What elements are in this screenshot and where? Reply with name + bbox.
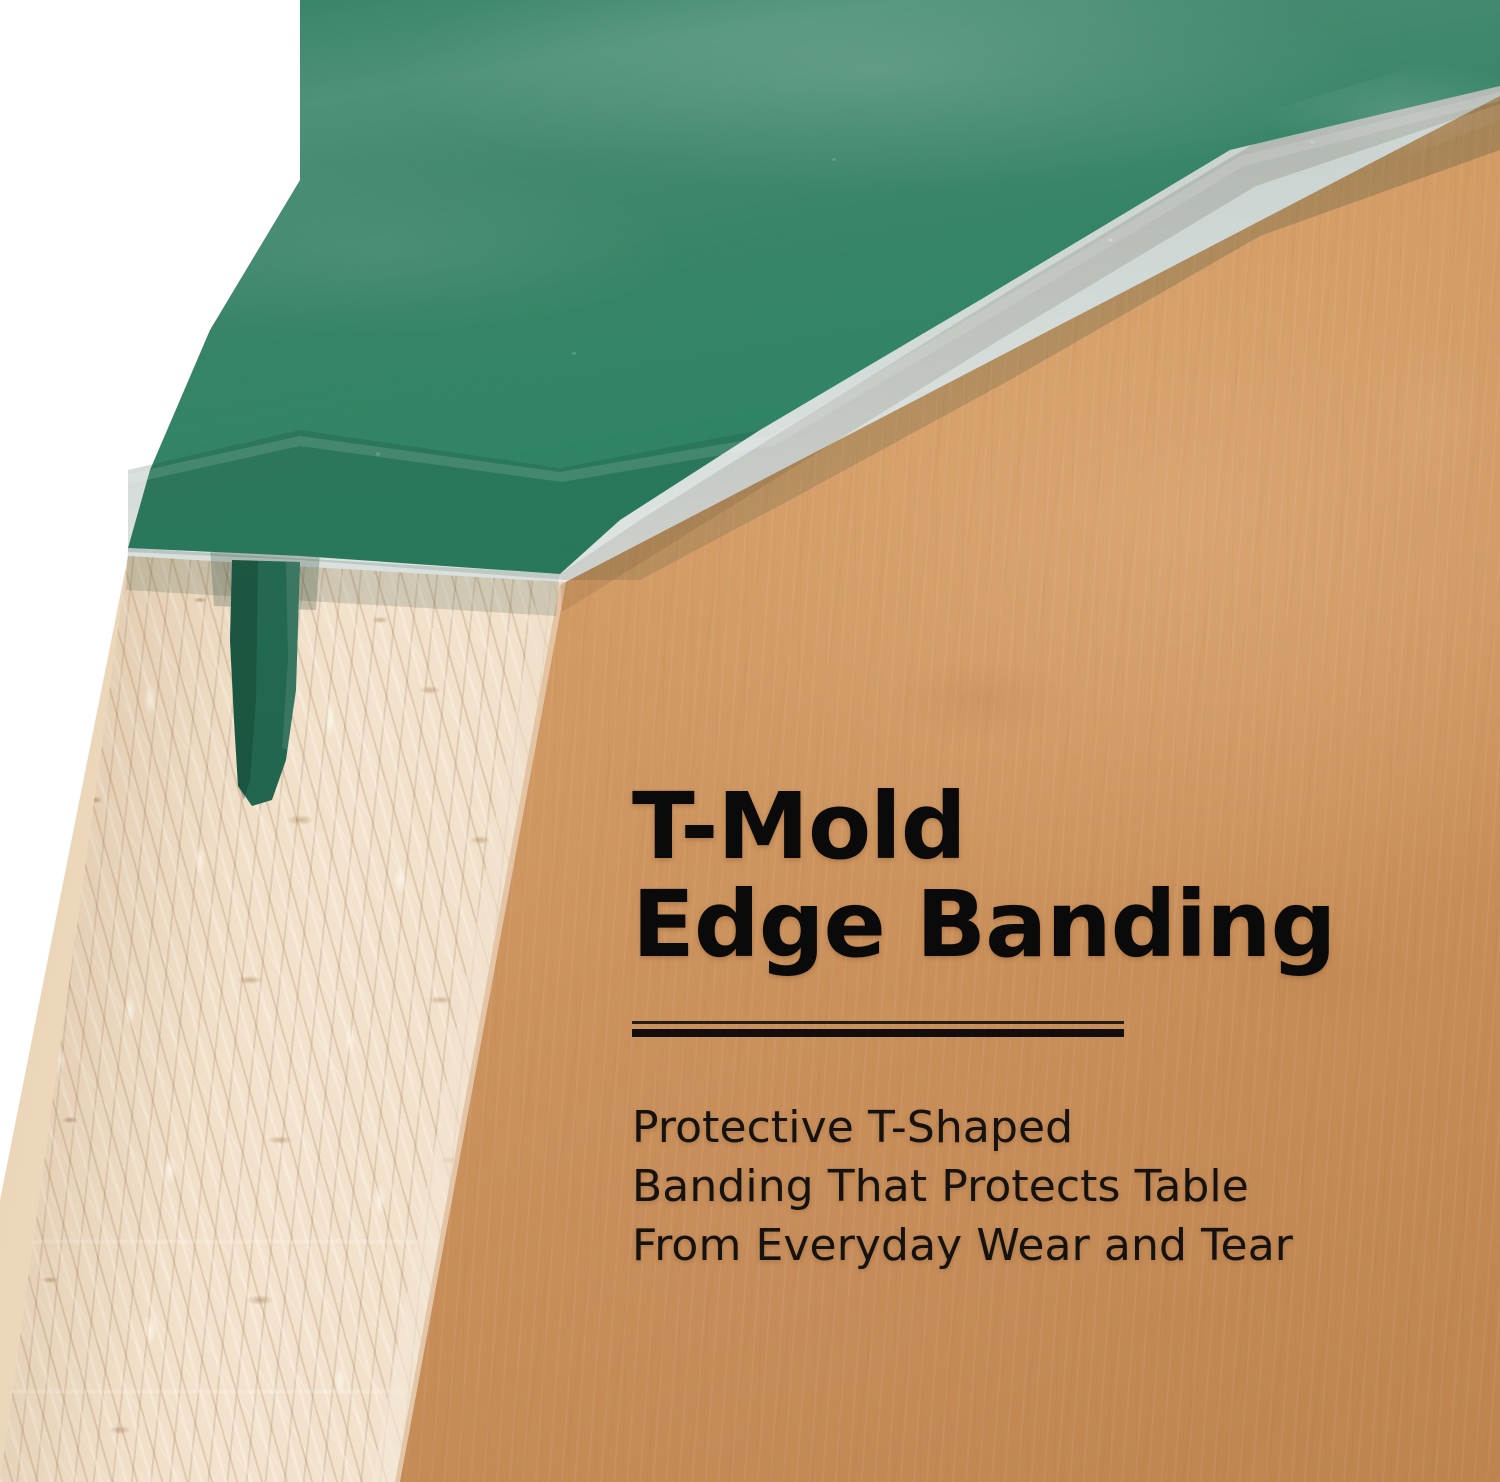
headline-line-2: Edge Banding bbox=[632, 876, 1422, 974]
headline-line-1: T-Mold bbox=[632, 773, 966, 880]
product-feature-image: T-Mold Edge Banding Protective T-Shaped … bbox=[0, 0, 1500, 1482]
body-line-2: Banding That Protects Table bbox=[632, 1158, 1422, 1217]
dust-speck bbox=[832, 158, 836, 161]
divider-thin-rule bbox=[632, 1021, 1124, 1024]
dust-speck bbox=[572, 352, 576, 355]
divider-thick-rule bbox=[632, 1029, 1124, 1037]
dust-speck bbox=[1310, 140, 1315, 144]
body-line-3: From Everyday Wear and Tear bbox=[632, 1217, 1422, 1276]
callout-text-block: T-Mold Edge Banding Protective T-Shaped … bbox=[632, 778, 1422, 1320]
divider bbox=[632, 1021, 1124, 1037]
body-line-1: Protective T-Shaped bbox=[632, 1099, 1422, 1158]
callout-body-copy: Protective T-Shaped Banding That Protect… bbox=[632, 1099, 1422, 1276]
dust-speck bbox=[1108, 238, 1113, 242]
dust-speck bbox=[376, 452, 380, 456]
page-title: T-Mold Edge Banding bbox=[632, 778, 1422, 975]
